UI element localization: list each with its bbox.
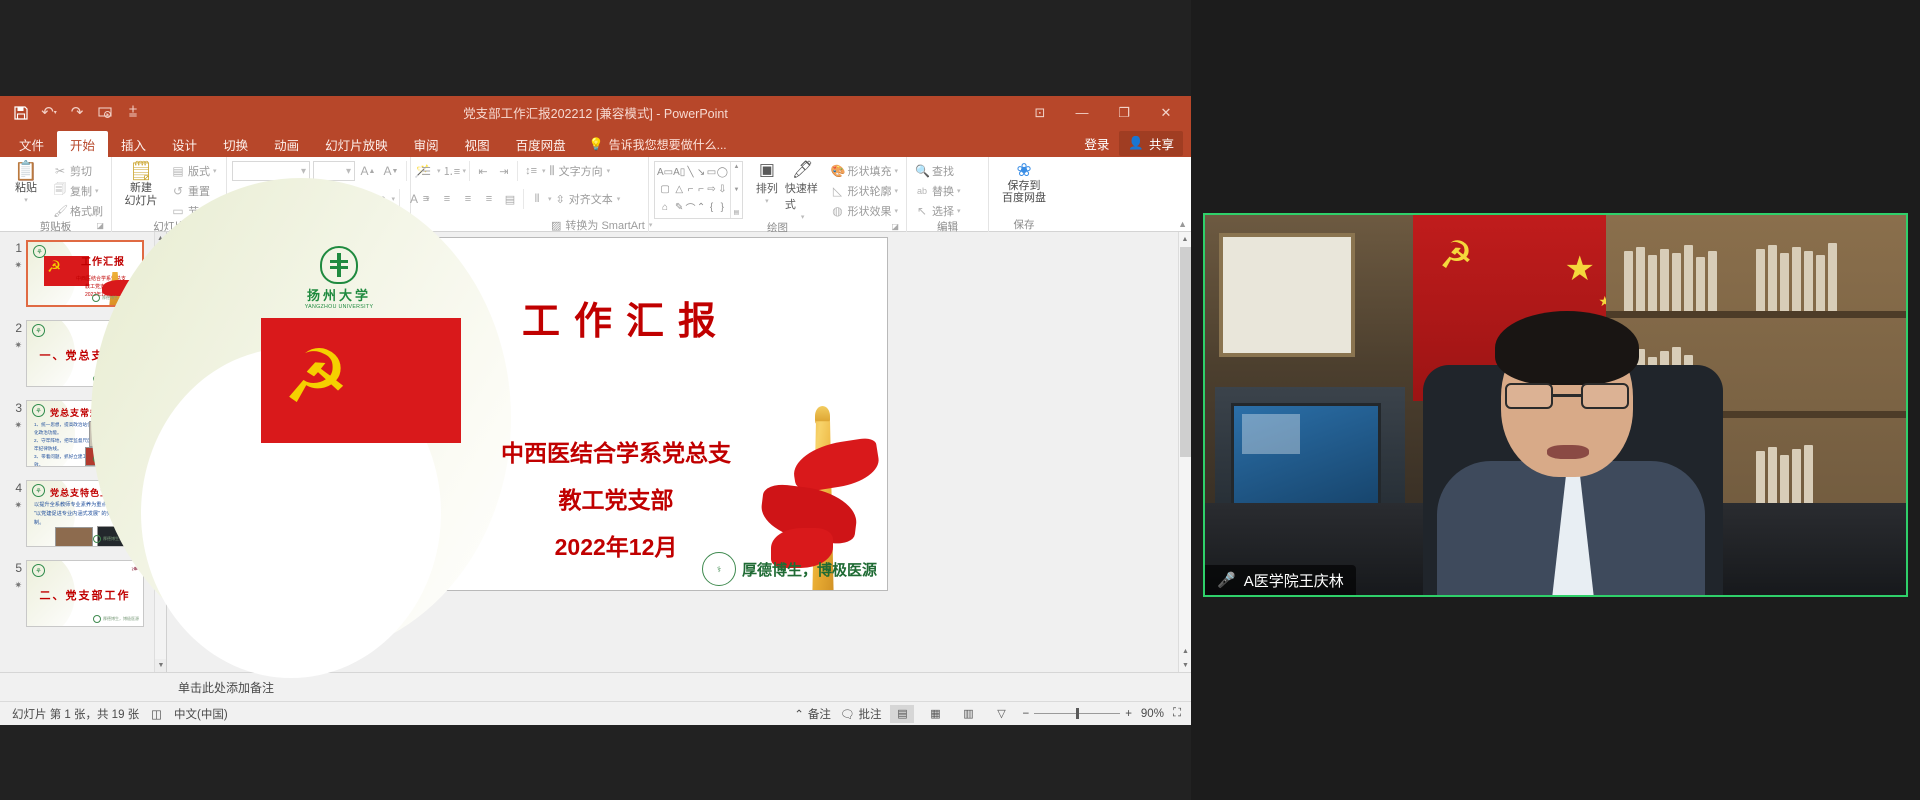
copy-button[interactable]: 🗐 复制 ▾ — [50, 181, 106, 200]
animation-star-icon: ✷ — [6, 418, 22, 432]
status-left: 幻灯片 第 1 张，共 19 张 ◫ 中文(中国) — [4, 706, 228, 722]
shape-curve-icon[interactable]: ⌃ — [696, 199, 706, 216]
arrange-label: 排列 — [756, 180, 778, 196]
quick-access-toolbar[interactable]: ↶▾ ↷ ⩲ — [0, 101, 146, 125]
shapes-more-icon[interactable]: ▤ — [734, 209, 740, 216]
thumb-watermark: 厚德博生，博极医源 — [93, 615, 139, 623]
paste-label: 粘贴 — [15, 183, 37, 195]
participant-mouth — [1547, 445, 1589, 459]
undo-icon[interactable]: ↶▾ — [36, 101, 62, 125]
align-text-label: 对齐文本 — [569, 191, 613, 207]
cut-button[interactable]: ✂ 剪切 — [50, 161, 106, 180]
shape-fill-dropdown-icon[interactable]: ▾ — [894, 167, 898, 175]
text-direction-button[interactable]: ⫼ 文字方向 ▾ — [547, 161, 614, 181]
tab-baidu-netdisk[interactable]: 百度网盘 — [503, 131, 579, 157]
shape-line-icon[interactable]: ╲ — [685, 164, 695, 181]
quick-styles-button[interactable]: 🖊 快速样式 ▾ — [785, 160, 821, 221]
participant-video-tile[interactable]: ☭ ★ ★ — [1203, 213, 1908, 597]
zoom-slider[interactable]: − + — [1022, 708, 1131, 720]
ribbon-group-clipboard: 📋 粘贴 ▾ ✂ 剪切 🗐 复制 ▾ — [0, 157, 112, 232]
text-direction-dropdown-icon[interactable]: ▾ — [607, 167, 611, 175]
arrange-dropdown-icon[interactable]: ▾ — [765, 197, 769, 205]
hammer-sickle-icon: ☭ — [1439, 233, 1473, 278]
format-painter-label: 格式刷 — [70, 203, 103, 219]
slide-count-label: 幻灯片 第 1 张，共 19 张 — [12, 706, 139, 722]
thumb-title: 二、党支部工作 — [27, 587, 143, 603]
convert-smartart-label: 转换为 SmartArt — [565, 217, 644, 233]
share-button[interactable]: 👤 共享 — [1119, 131, 1183, 156]
thumbnail-number: 2✷ — [6, 320, 22, 352]
slide-subtitle-2[interactable]: 教工党支部 — [426, 481, 806, 515]
ribbon-tab-strip: 文件 开始 插入 设计 切换 动画 幻灯片放映 审阅 视图 百度网盘 💡 告诉我… — [0, 129, 1191, 157]
replace-button[interactable]: ab 替换 ▾ — [912, 181, 964, 200]
reset-icon: ↺ — [171, 184, 185, 198]
line-spacing-icon[interactable]: ↕≡ — [521, 161, 541, 181]
shapes-gallery[interactable]: A▭ A▯ ╲ ↘ ▭ ◯ ▢ △ ⌐ ⌐ ⇨ — [654, 161, 743, 219]
screen-share-region: ↶▾ ↷ ⩲ 党支部工作汇报202212 [兼容模式] - PowerPoint… — [0, 0, 1191, 800]
accessibility-check-icon[interactable]: ◫ — [151, 707, 162, 721]
paintbrush-icon: 🖌 — [53, 204, 67, 218]
copy-label: 复制 — [70, 183, 92, 199]
distribute-icon[interactable]: ▤ — [500, 189, 520, 209]
slideshow-icon[interactable]: ▽ — [989, 705, 1013, 723]
bullets-icon[interactable]: ☰ — [416, 161, 436, 181]
shape-textbox-icon[interactable]: A▭ — [657, 164, 673, 181]
share-person-icon: 👤 — [1128, 136, 1144, 151]
shape-rounded-rect-icon[interactable]: ▢ — [657, 181, 673, 198]
tab-transitions[interactable]: 切换 — [210, 131, 261, 157]
start-slideshow-icon[interactable] — [92, 101, 118, 125]
text-direction-icon: ⫼ — [550, 165, 555, 178]
slide-subtitle-1[interactable]: 中西医结合学系党总支 — [426, 434, 806, 468]
thumbnail-row[interactable]: 5✷ ⚘ ❧ 二、党支部工作 厚德博生，博极医源 — [6, 560, 156, 627]
save-group-title: 保存 — [994, 218, 1054, 232]
zoom-track[interactable] — [1034, 713, 1120, 714]
comments-toggle-button[interactable]: 🗨 批注 — [840, 706, 882, 722]
columns-icon[interactable]: ⦀ — [527, 189, 547, 209]
shape-outline-label: 形状轮廓 — [847, 183, 891, 199]
thumb-scroll-down-icon[interactable]: ▼ — [155, 659, 167, 672]
shape-triangle-icon[interactable]: △ — [673, 181, 685, 198]
video-panel: ☭ ★ ★ — [1191, 0, 1920, 800]
university-name-en: YANGZHOU UNIVERSITY — [297, 304, 381, 310]
shape-down-arrow-icon[interactable]: ⇩ — [717, 181, 728, 198]
status-bar: 幻灯片 第 1 张，共 19 张 ◫ 中文(中国) ⌃ 备注 🗨 批注 ▤ ▦ — [0, 701, 1191, 725]
ribbon-group-save: ❀ 保存到 百度网盘 保存 — [989, 157, 1059, 232]
lightbulb-icon: 💡 — [589, 137, 604, 151]
screen: ↶▾ ↷ ⩲ 党支部工作汇报202212 [兼容模式] - PowerPoint… — [0, 0, 1920, 800]
yangzhou-emblem-icon — [320, 246, 358, 284]
quick-styles-icon: 🖊 — [792, 160, 814, 179]
watermark-text: 厚德博生，博极医源 — [742, 559, 877, 580]
justify-icon[interactable]: ≡ — [479, 189, 499, 209]
decrease-indent-icon[interactable]: ⇤ — [473, 161, 493, 181]
shape-fill-icon: 🎨 — [830, 164, 844, 178]
baidu-netdisk-icon: ❀ — [1016, 160, 1031, 180]
shape-outline-icon: ◺ — [830, 184, 844, 198]
new-slide-label-2: 幻灯片 — [125, 196, 158, 208]
ribbon-group-paragraph: ☰ ▾ ⒈≡ ▾ ⇤ ⇥ ↕≡ ▾ ⫼ 文字方向 — [411, 157, 649, 232]
shape-vertical-textbox-icon[interactable]: A▯ — [673, 164, 685, 181]
powerpoint-window: ↶▾ ↷ ⩲ 党支部工作汇报202212 [兼容模式] - PowerPoint… — [0, 96, 1191, 725]
scissors-icon: ✂ — [53, 164, 67, 178]
shapes-grid[interactable]: A▭ A▯ ╲ ↘ ▭ ◯ ▢ △ ⌐ ⌐ ⇨ — [655, 162, 730, 218]
animation-star-icon: ✷ — [6, 578, 22, 592]
align-text-icon: ⇳ — [556, 193, 565, 206]
restore-icon[interactable]: ❐ — [1103, 96, 1145, 129]
fit-to-window-icon[interactable]: ⛶ — [1173, 707, 1181, 720]
slide-watermark: ⚕ 厚德博生，博极医源 — [702, 552, 877, 586]
baidu-save-label-1: 保存到 — [1008, 180, 1041, 192]
select-label: 选择 — [932, 203, 954, 219]
tab-review[interactable]: 审阅 — [401, 131, 452, 157]
zoom-thumb[interactable] — [1076, 708, 1079, 719]
shapes-scrollbar[interactable]: ▲ ▼ ▤ — [730, 162, 742, 218]
normal-view-icon[interactable]: ▤ — [890, 705, 914, 723]
shapes-scroll-up-icon[interactable]: ▲ — [733, 164, 739, 170]
share-label: 共享 — [1149, 134, 1174, 153]
arrange-button[interactable]: ▣ 排列 ▾ — [752, 160, 782, 205]
comments-toggle-label: 批注 — [858, 706, 881, 722]
save-to-baidu-netdisk-button[interactable]: ❀ 保存到 百度网盘 — [997, 160, 1051, 204]
bullets-dropdown-icon[interactable]: ▾ — [437, 167, 441, 175]
text-direction-label: 文字方向 — [559, 163, 603, 179]
participant-name: A医学院王庆林 — [1244, 570, 1344, 591]
columns-dropdown-icon[interactable]: ▾ — [548, 195, 552, 203]
shape-right-brace-icon[interactable]: } — [717, 199, 728, 216]
shape-outline-dropdown-icon[interactable]: ▾ — [894, 187, 898, 195]
tab-view[interactable]: 视图 — [452, 131, 503, 157]
participant-name-bar: 🎤 A医学院王庆林 — [1205, 565, 1356, 595]
animation-star-icon: ✷ — [6, 258, 22, 272]
shape-effects-label: 形状效果 — [847, 203, 891, 219]
tell-me-search[interactable]: 💡 告诉我您想要做什么... — [589, 131, 727, 157]
reset-label: 重置 — [188, 183, 210, 199]
paste-icon: 📋 — [14, 162, 38, 182]
search-icon: 🔍 — [915, 164, 929, 178]
stage-scroll-up-icon[interactable]: ▲ — [1179, 232, 1191, 246]
language-label[interactable]: 中文(中国) — [174, 706, 228, 722]
copy-icon: 🗐 — [53, 180, 67, 201]
format-painter-button[interactable]: 🖌 格式刷 — [50, 201, 106, 220]
thumb-title: 工作汇报 — [81, 253, 125, 268]
yangzhou-logo-icon: ⚘ — [32, 324, 45, 337]
ribbon: 📋 粘贴 ▾ ✂ 剪切 🗐 复制 ▾ — [0, 157, 1191, 232]
yangzhou-logo-icon: ⚘ — [32, 564, 45, 577]
align-right-icon[interactable]: ≡ — [458, 189, 478, 209]
shape-effects-button[interactable]: ◍ 形状效果 ▾ — [827, 201, 901, 220]
shape-elbow-arrow-icon[interactable]: ⌐ — [696, 181, 706, 198]
account-area: 登录 👤 共享 — [1084, 131, 1183, 156]
slide-title-text[interactable]: 工作汇报 — [461, 290, 791, 345]
slide-vertical-scrollbar[interactable]: ▲ ▲ ▼ — [1178, 232, 1191, 672]
shapes-scroll-down-icon[interactable]: ▼ — [733, 187, 739, 193]
shape-oval-icon[interactable]: ◯ — [717, 164, 728, 181]
replace-icon: ab — [915, 186, 929, 196]
zoom-in-button[interactable]: + — [1125, 708, 1132, 720]
new-slide-label-1: 新建 — [130, 183, 152, 195]
layout-label: 版式 — [188, 163, 210, 179]
shape-fill-label: 形状填充 — [847, 163, 891, 179]
tab-design[interactable]: 设计 — [159, 131, 210, 157]
line-spacing-dropdown-icon[interactable]: ▾ — [542, 167, 546, 175]
shape-effects-icon: ◍ — [830, 204, 844, 218]
shape-right-arrow-icon[interactable]: ⇨ — [706, 181, 716, 198]
window-title: 党支部工作汇报202212 [兼容模式] - PowerPoint — [0, 103, 1191, 122]
align-left-icon[interactable]: ≡ — [416, 189, 436, 209]
thumbnail-number: 3✷ — [6, 400, 22, 432]
yangzhou-university-logo: 扬州大学 YANGZHOU UNIVERSITY — [297, 246, 381, 310]
select-dropdown-icon[interactable]: ▾ — [957, 207, 961, 215]
new-slide-icon: 🗒 — [129, 162, 153, 182]
tab-home[interactable]: 开始 — [57, 131, 108, 157]
increase-font-size-icon[interactable]: A▲ — [358, 161, 378, 181]
layout-dropdown-icon[interactable]: ▾ — [213, 167, 217, 175]
animation-star-icon: ✷ — [6, 338, 22, 352]
zoom-out-button[interactable]: − — [1022, 708, 1029, 720]
replace-dropdown-icon[interactable]: ▾ — [957, 187, 961, 195]
shape-scribble-icon[interactable]: ✎ — [673, 199, 685, 216]
ribbon-group-editing: 🔍 查找 ab 替换 ▾ ↖ 选择 ▾ — [907, 157, 989, 232]
zoom-level-label[interactable]: 90% — [1141, 708, 1164, 720]
desk-monitor — [1231, 403, 1381, 507]
select-button[interactable]: ↖ 选择 ▾ — [912, 201, 964, 220]
reset-button[interactable]: ↺ 重置 — [168, 181, 220, 200]
numbering-icon[interactable]: ⒈≡ — [442, 161, 462, 181]
numbering-dropdown-icon[interactable]: ▾ — [463, 167, 467, 175]
layout-button[interactable]: ▤ 版式 ▾ — [168, 161, 220, 180]
new-slide-button[interactable]: 🗒 新建 幻灯片 — [117, 160, 165, 207]
title-bar: ↶▾ ↷ ⩲ 党支部工作汇报202212 [兼容模式] - PowerPoint… — [0, 96, 1191, 129]
flag-star-icon: ★ — [1565, 249, 1595, 289]
current-slide[interactable]: 扬州大学 YANGZHOU UNIVERSITY ☭ 工作汇报 中西医结合学系党… — [261, 238, 887, 590]
minimize-icon[interactable]: — — [1061, 96, 1103, 129]
hammer-sickle-icon: ☭ — [283, 340, 349, 414]
reading-view-icon[interactable]: ▥ — [956, 705, 980, 723]
tab-insert[interactable]: 插入 — [108, 131, 159, 157]
slide-editing-stage[interactable]: 扬州大学 YANGZHOU UNIVERSITY ☭ 工作汇报 中西医结合学系党… — [167, 232, 1191, 672]
close-icon[interactable]: ✕ — [1145, 96, 1187, 129]
shape-fill-button[interactable]: 🎨 形状填充 ▾ — [827, 161, 901, 180]
notes-toggle-button[interactable]: ⌃ 备注 — [794, 706, 831, 722]
align-text-button[interactable]: ⇳ 对齐文本 ▾ — [553, 189, 624, 209]
align-text-dropdown-icon[interactable]: ▾ — [617, 195, 621, 203]
sign-in-link[interactable]: 登录 — [1084, 134, 1109, 153]
arrange-icon: ▣ — [759, 160, 775, 179]
medical-school-seal-icon: ⚕ — [702, 552, 736, 586]
stage-scroll-thumb[interactable] — [1180, 247, 1191, 457]
shape-freeform-icon[interactable]: ⌂ — [657, 199, 673, 216]
save-icon[interactable] — [8, 101, 34, 125]
find-button[interactable]: 🔍 查找 — [912, 161, 964, 180]
comment-bubble-icon: 🗨 — [840, 707, 855, 721]
quick-styles-label: 快速样式 — [785, 180, 821, 212]
cursor-arrow-icon: ↖ — [915, 204, 929, 218]
notes-placeholder[interactable]: 单击此处添加备注 — [178, 679, 274, 696]
shape-left-brace-icon[interactable]: { — [706, 199, 716, 216]
clipboard-dialog-launcher[interactable]: ◪ — [96, 219, 104, 233]
shape-effects-dropdown-icon[interactable]: ▾ — [894, 207, 898, 215]
tab-slideshow[interactable]: 幻灯片放映 — [312, 131, 401, 157]
align-center-icon[interactable]: ≡ — [437, 189, 457, 209]
smartart-icon: ▨ — [551, 219, 561, 232]
layout-icon: ▤ — [171, 164, 185, 178]
eyeglasses — [1505, 383, 1629, 409]
find-label: 查找 — [932, 163, 954, 179]
collapse-ribbon-icon[interactable]: ▲ — [1178, 219, 1187, 229]
replace-label: 替换 — [932, 183, 954, 199]
paste-button[interactable]: 📋 粘贴 ▾ — [5, 160, 47, 204]
shape-arrow-icon[interactable]: ↘ — [696, 164, 706, 181]
tab-file[interactable]: 文件 — [6, 131, 57, 157]
notes-toggle-label: 备注 — [808, 706, 831, 722]
animation-star-icon: ✷ — [6, 498, 22, 512]
party-flag-image[interactable]: ☭ — [261, 318, 461, 443]
thumbnail-number: 4✷ — [6, 480, 22, 512]
ribbon-display-options-icon[interactable]: ⊡ — [1019, 96, 1061, 129]
cut-label: 剪切 — [70, 163, 92, 179]
decrease-font-size-icon[interactable]: A▼ — [381, 161, 401, 181]
baidu-save-label-2: 百度网盘 — [1002, 192, 1046, 204]
university-name-cn: 扬州大学 — [297, 285, 381, 304]
quick-styles-dropdown-icon[interactable]: ▾ — [801, 213, 805, 221]
section-icon: ▭ — [171, 204, 185, 218]
shape-outline-button[interactable]: ◺ 形状轮廓 ▾ — [827, 181, 901, 200]
notes-pane[interactable]: 单击此处添加备注 — [0, 672, 1191, 701]
participant-hair — [1495, 311, 1639, 385]
customize-qat-icon[interactable]: ⩲ — [120, 101, 146, 125]
shape-arc-icon[interactable]: ⌒ — [685, 199, 695, 216]
thumbnail-slide-5[interactable]: ⚘ ❧ 二、党支部工作 厚德博生，博极医源 — [26, 560, 144, 627]
tell-me-label: 告诉我您想要做什么... — [609, 136, 727, 153]
tab-animations[interactable]: 动画 — [261, 131, 312, 157]
paste-dropdown-icon[interactable]: ▾ — [24, 196, 28, 204]
microphone-icon[interactable]: 🎤 — [1217, 571, 1236, 589]
shape-rectangle-icon[interactable]: ▭ — [706, 164, 716, 181]
notes-icon: ⌃ — [794, 707, 804, 721]
shape-elbow-icon[interactable]: ⌐ — [685, 181, 695, 198]
work-area: 1✷ ⚘ 工作汇报 中西医结合学系党总支 教工党支部 2022年12月 — [0, 232, 1191, 672]
copy-dropdown-icon[interactable]: ▾ — [95, 187, 99, 195]
status-right: ⌃ 备注 🗨 批注 ▤ ▦ ▥ ▽ − + — [794, 705, 1187, 723]
thumbnail-number: 1✷ — [6, 240, 22, 272]
ribbon-group-drawing: A▭ A▯ ╲ ↘ ▭ ◯ ▢ △ ⌐ ⌐ ⇨ — [649, 157, 907, 232]
increase-indent-icon[interactable]: ⇥ — [494, 161, 514, 181]
thumbnail-number: 5✷ — [6, 560, 22, 592]
window-controls[interactable]: ⊡ — ❐ ✕ — [1019, 96, 1187, 129]
slide-sorter-icon[interactable]: ▦ — [923, 705, 947, 723]
redo-icon[interactable]: ↷ — [64, 101, 90, 125]
